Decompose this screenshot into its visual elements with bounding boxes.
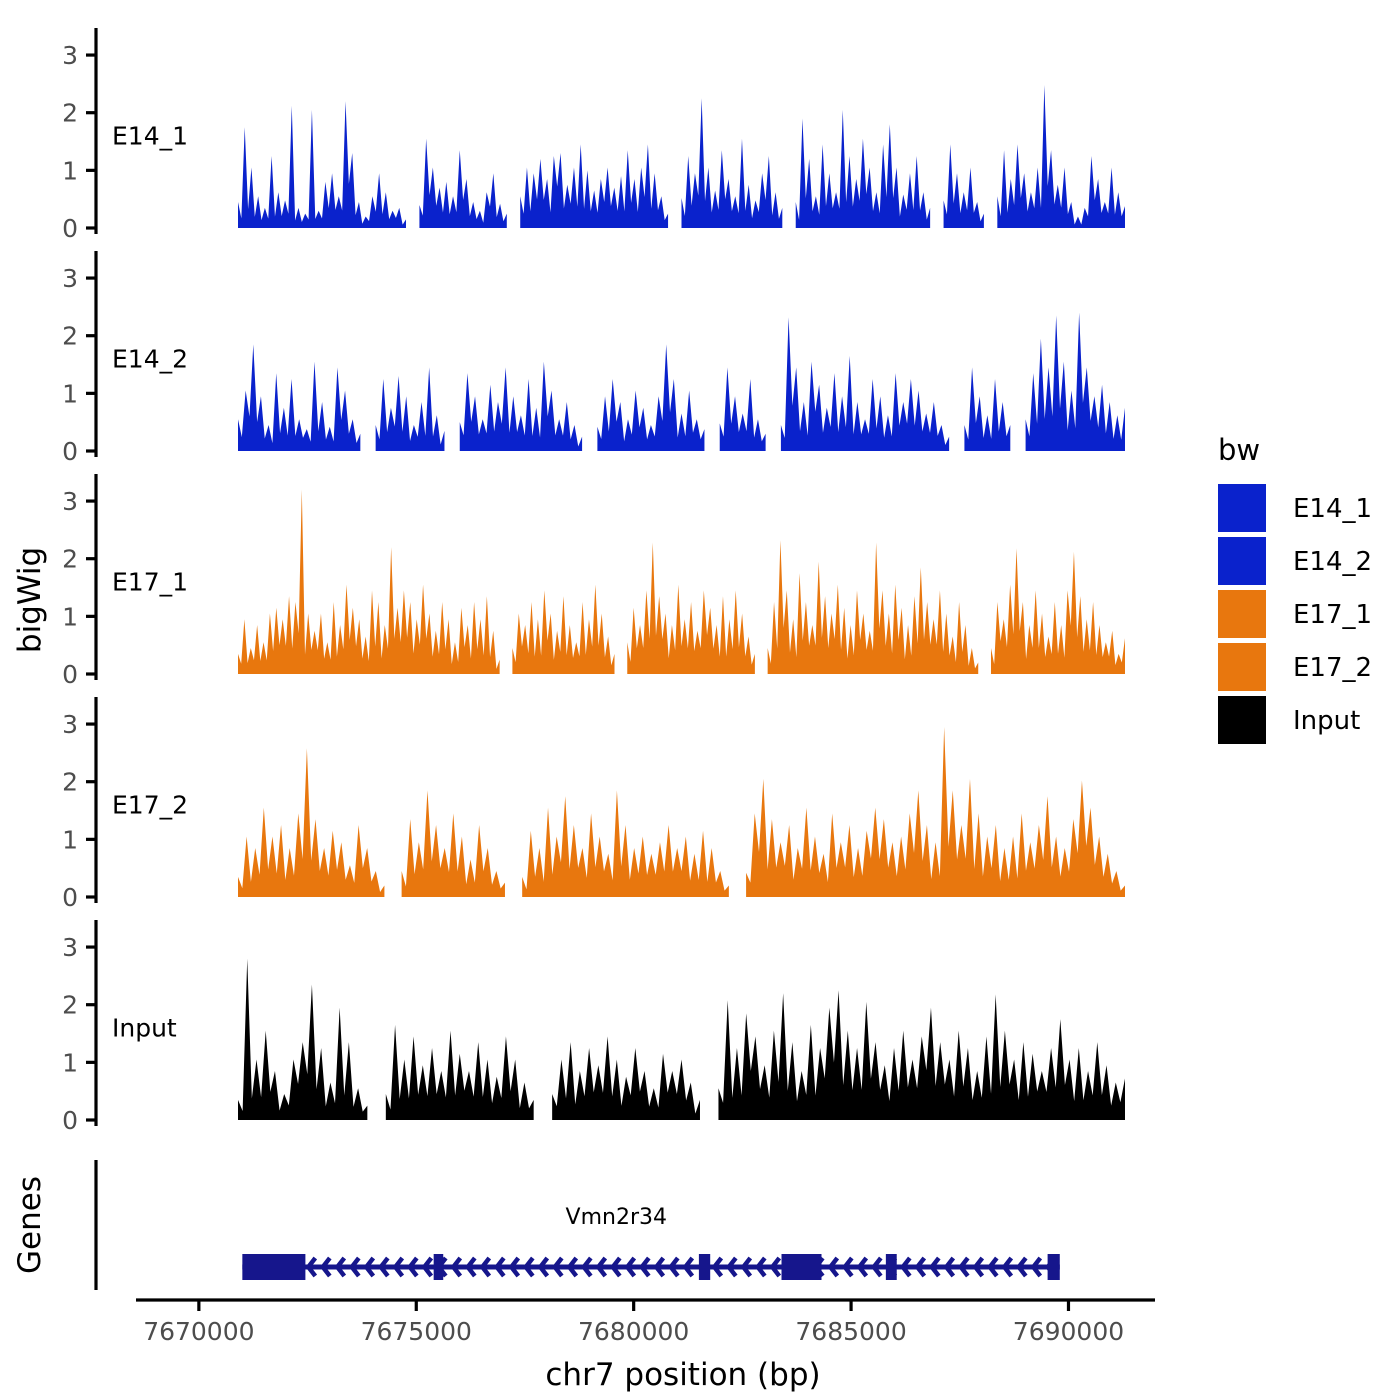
coverage-area-E14_2: [238, 313, 1125, 451]
y-tick-label: 1: [62, 1048, 78, 1077]
genes-axis-title: Genes: [12, 1176, 48, 1274]
legend-swatch-E17_1: [1218, 590, 1266, 638]
coverage-area-Input: [238, 959, 1125, 1120]
legend-label-E17_1: E17_1: [1293, 600, 1372, 630]
legend-label-E17_2: E17_2: [1293, 653, 1372, 683]
legend-item-E14_2[interactable]: E14_2: [1218, 537, 1372, 585]
gene-exon: [242, 1254, 305, 1280]
y-tick-label: 0: [62, 214, 78, 243]
legend-item-Input[interactable]: Input: [1218, 696, 1360, 744]
panel-label-E14_2: E14_2: [112, 344, 188, 373]
y-tick-label: 0: [62, 660, 78, 689]
y-tick-label: 2: [62, 768, 78, 797]
legend-item-E17_2[interactable]: E17_2: [1218, 643, 1372, 691]
gene-exon: [434, 1254, 444, 1280]
coverage-panel-E14_1: 0123E14_1: [62, 28, 1125, 243]
genes-panel: GenesVmn2r34: [12, 1160, 1060, 1290]
coverage-panel-E14_2: 0123E14_2: [62, 251, 1125, 466]
y-tick-label: 0: [62, 437, 78, 466]
coverage-area-E17_2: [238, 727, 1125, 897]
y-tick-label: 2: [62, 99, 78, 128]
y-axis-title: bigWig: [12, 547, 48, 653]
gene-exon: [886, 1254, 897, 1280]
gene-exon: [699, 1254, 710, 1280]
y-tick-label: 1: [62, 156, 78, 185]
y-tick-label: 0: [62, 883, 78, 912]
coverage-panel-Input: 0123Input: [62, 920, 1125, 1135]
x-tick-label: 7670000: [143, 1317, 254, 1346]
y-tick-label: 3: [62, 933, 78, 962]
legend-swatch-Input: [1218, 696, 1266, 744]
legend-label-E14_2: E14_2: [1293, 547, 1372, 577]
x-tick-label: 7675000: [361, 1317, 472, 1346]
y-tick-label: 3: [62, 264, 78, 293]
panel-label-E17_2: E17_2: [112, 790, 188, 819]
legend-label-E14_1: E14_1: [1293, 494, 1372, 524]
gene-exon: [1048, 1254, 1060, 1280]
genome-browser-figure: 0123E14_10123E14_20123E17_10123E17_20123…: [0, 0, 1400, 1400]
y-tick-label: 3: [62, 710, 78, 739]
panel-label-E17_1: E17_1: [112, 567, 188, 596]
gene-Vmn2r34[interactable]: Vmn2r34: [242, 1205, 1059, 1280]
x-axis: 76700007675000768000076850007690000chr7 …: [136, 1300, 1155, 1393]
coverage-area-E17_1: [238, 490, 1125, 674]
coverage-area-E14_1: [238, 85, 1125, 228]
panel-label-Input: Input: [112, 1013, 177, 1042]
y-tick-label: 3: [62, 487, 78, 516]
gene-exon: [782, 1254, 822, 1280]
legend-swatch-E14_2: [1218, 537, 1266, 585]
y-tick-label: 1: [62, 825, 78, 854]
x-tick-label: 7690000: [1013, 1317, 1124, 1346]
legend: bwE14_1E14_2E17_1E17_2Input: [1218, 433, 1372, 744]
y-tick-label: 3: [62, 41, 78, 70]
legend-item-E14_1[interactable]: E14_1: [1218, 484, 1372, 532]
y-tick-label: 2: [62, 991, 78, 1020]
legend-swatch-E14_1: [1218, 484, 1266, 532]
x-tick-label: 7685000: [795, 1317, 906, 1346]
figure-root: 0123E14_10123E14_20123E17_10123E17_20123…: [0, 0, 1400, 1400]
panel-label-E14_1: E14_1: [112, 121, 188, 150]
coverage-panel-E17_2: 0123E17_2: [62, 697, 1125, 912]
legend-label-Input: Input: [1293, 706, 1360, 736]
coverage-panel-E17_1: 0123E17_1: [62, 474, 1125, 689]
y-tick-label: 1: [62, 602, 78, 631]
gene-label-Vmn2r34: Vmn2r34: [566, 1205, 667, 1230]
x-axis-title: chr7 position (bp): [545, 1357, 820, 1393]
legend-item-E17_1[interactable]: E17_1: [1218, 590, 1372, 638]
y-tick-label: 2: [62, 322, 78, 351]
y-tick-label: 0: [62, 1106, 78, 1135]
y-tick-label: 1: [62, 379, 78, 408]
legend-title: bw: [1218, 433, 1260, 467]
x-tick-label: 7680000: [578, 1317, 689, 1346]
y-tick-label: 2: [62, 545, 78, 574]
legend-swatch-E17_2: [1218, 643, 1266, 691]
